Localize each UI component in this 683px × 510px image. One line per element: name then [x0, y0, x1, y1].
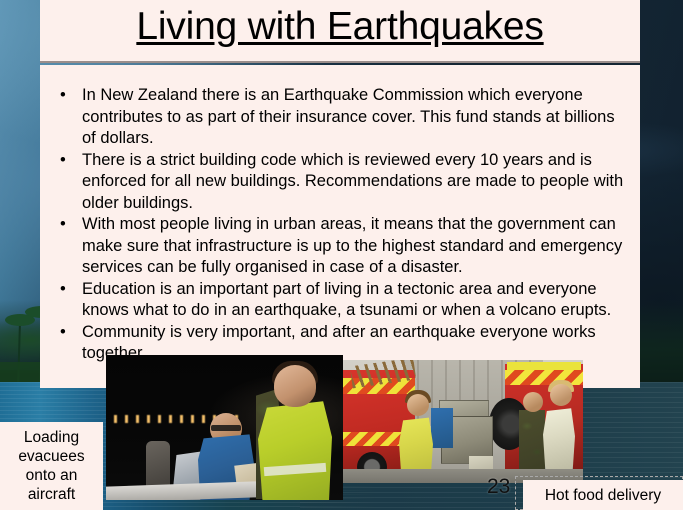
bullet-text: There is a strict building code which is…: [82, 151, 623, 212]
photo-firefighter-head: [407, 394, 429, 416]
caption-left-photo[interactable]: Loading evacuees onto an aircraft: [0, 422, 103, 510]
slide-title: Living with Earthquakes: [40, 3, 640, 51]
content-panel: • In New Zealand there is an Earthquake …: [40, 65, 640, 388]
photo-soldier-head: [274, 365, 316, 407]
title-panel: Living with Earthquakes: [40, 0, 640, 63]
photo-soldier-camo-head: [523, 392, 543, 412]
bullet-item: • With most people living in urban areas…: [54, 214, 628, 279]
fire-service-supplies-photo[interactable]: [343, 360, 583, 483]
glasses-icon: [211, 425, 241, 431]
bullet-item: • There is a strict building code which …: [54, 150, 628, 215]
bullet-marker-icon: •: [60, 85, 66, 107]
bullet-item: • Education is an important part of livi…: [54, 279, 628, 322]
photo-medic-hi-vis: [543, 404, 575, 474]
caption-right-photo[interactable]: Hot food delivery: [523, 480, 683, 510]
bullet-marker-icon: •: [60, 214, 66, 236]
photo-person-blue-overalls: [431, 408, 453, 448]
photo-medic-head: [550, 384, 572, 406]
evacuation-night-photo[interactable]: [106, 355, 343, 500]
slide-page-number: 23: [487, 475, 510, 499]
photo-hi-vis-vest: [258, 395, 332, 500]
bullet-text: With most people living in urban areas, …: [82, 215, 622, 276]
bullet-text: In New Zealand there is an Earthquake Co…: [82, 86, 615, 147]
presentation-slide: Living with Earthquakes • In New Zealand…: [0, 0, 683, 510]
bullet-text: Education is an important part of living…: [82, 280, 611, 320]
bullet-marker-icon: •: [60, 279, 66, 301]
bullet-item: • In New Zealand there is an Earthquake …: [54, 85, 628, 150]
bullet-list: • In New Zealand there is an Earthquake …: [54, 85, 628, 365]
bullet-marker-icon: •: [60, 150, 66, 172]
bullet-marker-icon: •: [60, 322, 66, 344]
